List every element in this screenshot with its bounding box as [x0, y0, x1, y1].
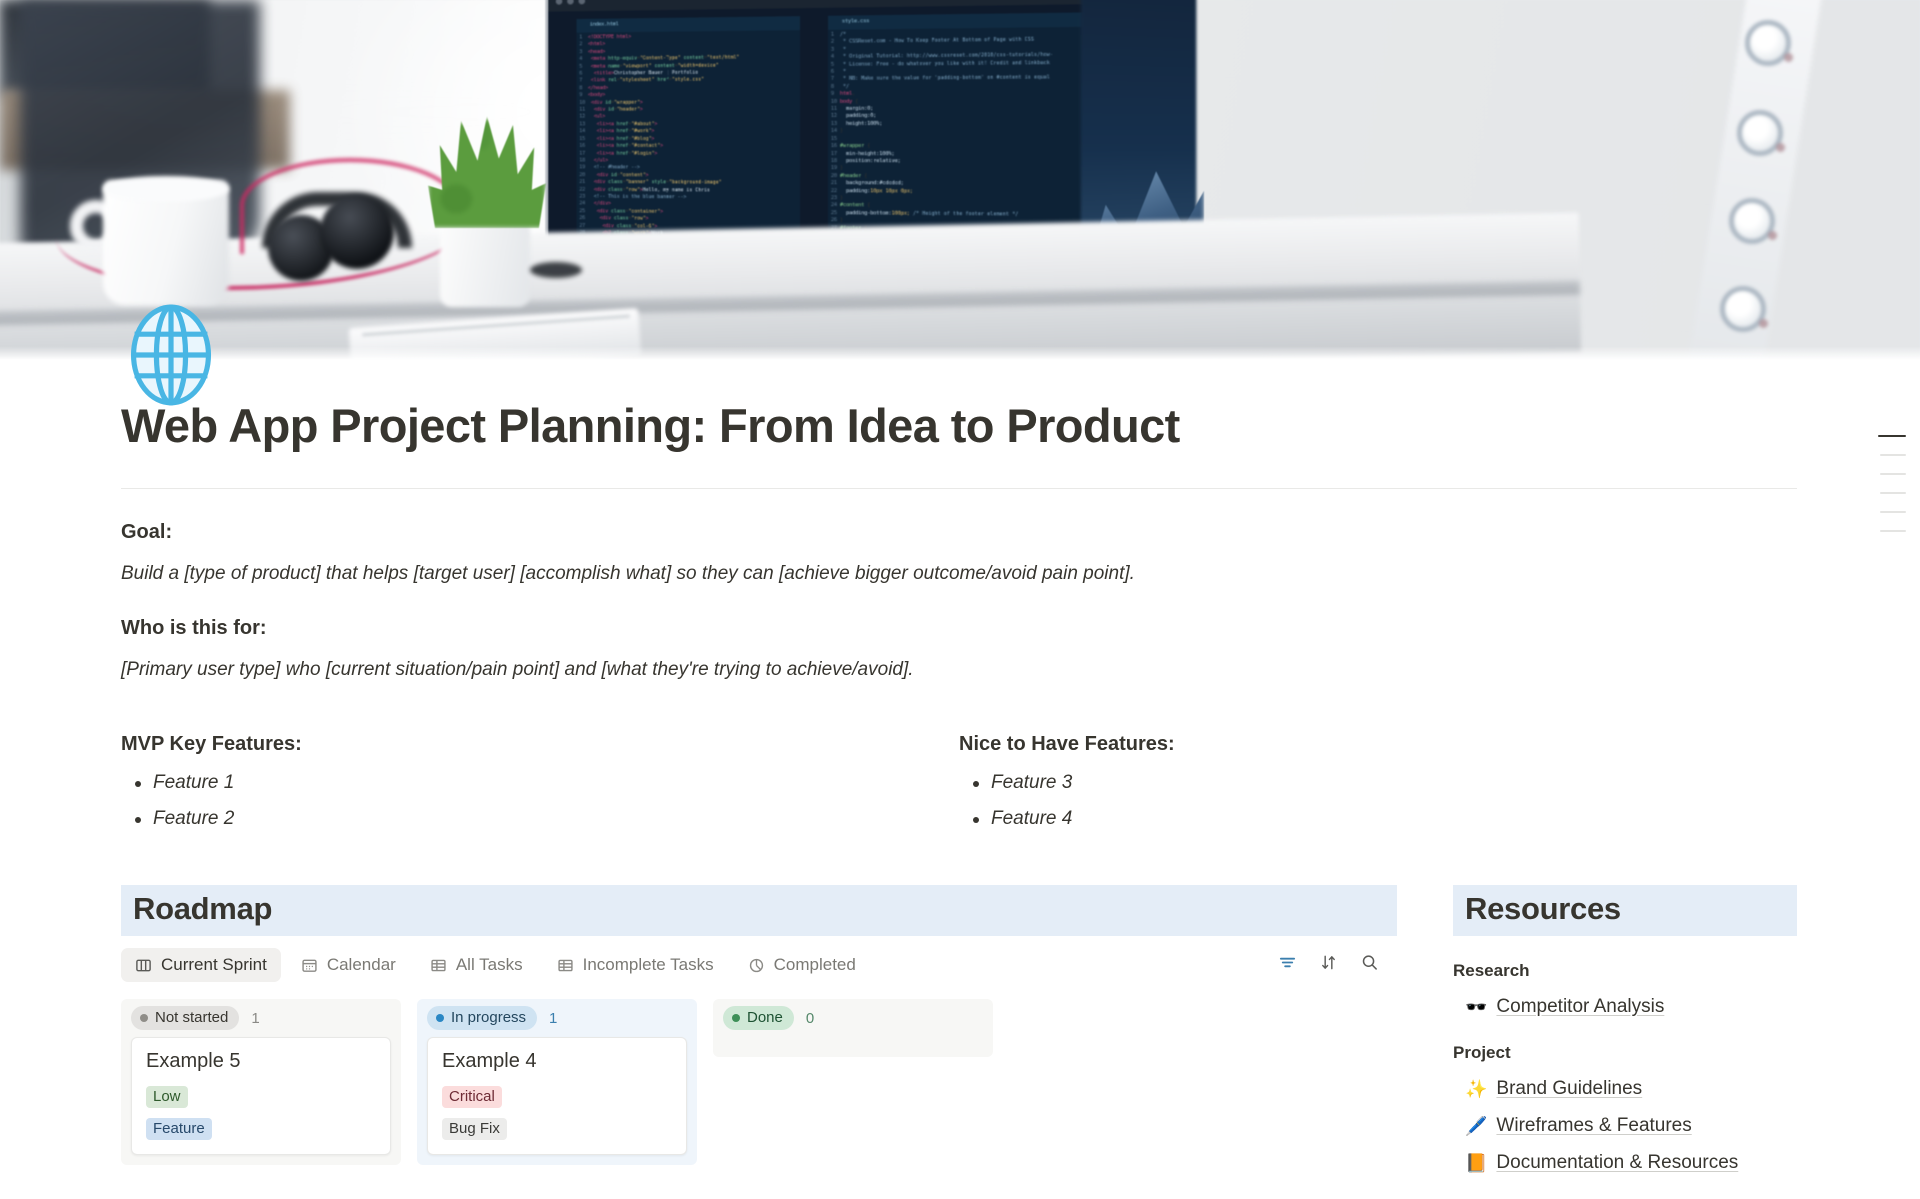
tab-incomplete-tasks[interactable]: Incomplete Tasks	[543, 948, 728, 982]
resource-label: Wireframes & Features	[1496, 1115, 1691, 1137]
headphone-earcup-right	[320, 195, 394, 269]
resource-link-competitor-analysis[interactable]: 🕶️ Competitor Analysis	[1453, 996, 1797, 1018]
nice-to-have-list: Feature 3 Feature 4	[959, 772, 1797, 830]
search-icon[interactable]	[1360, 953, 1379, 977]
board-icon	[135, 957, 152, 974]
goal-text[interactable]: Build a [type of product] that helps [ta…	[121, 563, 1797, 585]
column-header[interactable]: Done 0	[713, 999, 993, 1037]
toc-mark[interactable]	[1880, 511, 1906, 513]
audience-heading: Who is this for:	[121, 617, 1797, 640]
card-tag-row: Low	[146, 1086, 376, 1108]
toc-mark[interactable]	[1880, 530, 1906, 532]
pie-chart-icon	[748, 957, 765, 974]
pen-icon: 🖊️	[1465, 1117, 1487, 1135]
column-count: 0	[806, 1010, 814, 1027]
column-header[interactable]: Not started 1	[121, 999, 401, 1037]
list-item[interactable]: Feature 2	[121, 808, 959, 830]
cover-bottom-fade	[0, 346, 1920, 360]
roadmap-tool-icons	[1278, 953, 1397, 977]
toc-mark[interactable]	[1880, 473, 1906, 475]
table-icon	[557, 957, 574, 974]
roadmap-view-tabs: Current Sprint	[121, 948, 1278, 982]
resources-section: Resources Research 🕶️ Competitor Analysi…	[1453, 885, 1797, 1174]
toc-mark[interactable]	[1880, 454, 1906, 456]
mug-rim	[103, 176, 229, 202]
lower-section: Roadmap Current Sprint	[121, 885, 1797, 1174]
status-badge: Not started	[131, 1006, 239, 1030]
status-badge: In progress	[427, 1006, 537, 1030]
kanban-column-done: Done 0	[713, 999, 993, 1165]
light-ring	[1745, 20, 1791, 66]
card-title: Example 4	[442, 1050, 672, 1073]
toc-mark[interactable]	[1880, 492, 1906, 494]
features-columns: MVP Key Features: Feature 1 Feature 2 Ni…	[121, 733, 1797, 830]
cover-photo: index.html 1 <!DOCTYPE html> 2 <html> 3 …	[0, 0, 1920, 360]
globe-icon[interactable]	[119, 303, 223, 407]
light-ring	[1720, 286, 1766, 332]
roadmap-heading: Roadmap	[121, 885, 1397, 936]
tab-label: Completed	[774, 955, 856, 975]
resource-link-brand-guidelines[interactable]: ✨ Brand Guidelines	[1453, 1078, 1797, 1100]
tab-label: Current Sprint	[161, 955, 267, 975]
tab-label: Incomplete Tasks	[583, 955, 714, 975]
type-tag: Feature	[146, 1118, 212, 1140]
task-card[interactable]: Example 5 Low Feature	[131, 1037, 391, 1155]
mvp-features-list: Feature 1 Feature 2	[121, 772, 959, 830]
mouse	[530, 262, 582, 278]
title-divider	[121, 488, 1797, 489]
status-dot-icon	[732, 1014, 740, 1022]
list-item[interactable]: Feature 1	[121, 772, 959, 794]
page-title[interactable]: Web App Project Planning: From Idea to P…	[121, 398, 1797, 453]
type-tag: Bug Fix	[442, 1118, 507, 1140]
orange-book-icon: 📙	[1465, 1154, 1487, 1172]
roadmap-toolbar: Current Sprint	[121, 945, 1397, 985]
resources-heading: Resources	[1453, 885, 1797, 936]
editor-tab-style-css: style.css	[828, 12, 1089, 29]
card-title: Example 5	[146, 1050, 376, 1073]
column-count: 1	[251, 1010, 259, 1027]
filter-icon[interactable]	[1278, 953, 1297, 977]
light-ring	[1737, 110, 1783, 156]
table-of-contents-minimap[interactable]	[1878, 435, 1906, 532]
editor-titlebar	[548, 0, 1092, 12]
list-item[interactable]: Feature 4	[959, 808, 1797, 830]
card-tag-row: Bug Fix	[442, 1118, 672, 1140]
kanban-column-not-started: Not started 1 Example 5 Low	[121, 999, 401, 1165]
mvp-features-column: MVP Key Features: Feature 1 Feature 2	[121, 733, 959, 830]
tab-label: All Tasks	[456, 955, 523, 975]
card-tag-row: Critical	[442, 1086, 672, 1108]
nice-to-have-column: Nice to Have Features: Feature 3 Feature…	[959, 733, 1797, 830]
status-label: Done	[747, 1009, 783, 1026]
status-label: Not started	[155, 1009, 228, 1026]
light-ring	[1729, 198, 1775, 244]
editor-tab-index-html: index.html	[577, 16, 800, 33]
column-count: 1	[549, 1010, 557, 1027]
tab-all-tasks[interactable]: All Tasks	[416, 948, 537, 982]
resources-group-research: Research	[1453, 961, 1797, 981]
tab-calendar[interactable]: Calendar	[287, 948, 410, 982]
column-header[interactable]: In progress 1	[417, 999, 697, 1037]
sunglasses-icon: 🕶️	[1465, 998, 1487, 1016]
resource-label: Brand Guidelines	[1496, 1078, 1642, 1100]
status-dot-icon	[140, 1014, 148, 1022]
status-badge: Done	[723, 1006, 794, 1030]
column-cards: Example 5 Low Feature	[121, 1037, 401, 1165]
priority-tag: Critical	[442, 1086, 502, 1108]
sort-icon[interactable]	[1319, 953, 1338, 977]
tab-current-sprint[interactable]: Current Sprint	[121, 948, 281, 982]
column-cards: Example 4 Critical Bug Fix	[417, 1037, 697, 1165]
kanban-column-in-progress: In progress 1 Example 4 Critical	[417, 999, 697, 1165]
status-dot-icon	[436, 1014, 444, 1022]
tab-completed[interactable]: Completed	[734, 948, 870, 982]
resource-label: Competitor Analysis	[1496, 996, 1664, 1018]
resource-link-documentation-resources[interactable]: 📙 Documentation & Resources	[1453, 1152, 1797, 1174]
page-cover-image: index.html 1 <!DOCTYPE html> 2 <html> 3 …	[0, 0, 1920, 360]
goal-heading: Goal:	[121, 521, 1797, 544]
kanban-board: Not started 1 Example 5 Low	[121, 999, 1397, 1165]
card-tag-row: Feature	[146, 1118, 376, 1140]
nice-to-have-heading: Nice to Have Features:	[959, 733, 1797, 756]
status-label: In progress	[451, 1009, 526, 1026]
mvp-features-heading: MVP Key Features:	[121, 733, 959, 756]
list-item[interactable]: Feature 3	[959, 772, 1797, 794]
resource-label: Documentation & Resources	[1496, 1152, 1738, 1174]
audience-text[interactable]: [Primary user type] who [current situati…	[121, 659, 1797, 681]
calendar-icon	[301, 957, 318, 974]
document-body: Web App Project Planning: From Idea to P…	[0, 398, 1920, 1174]
roadmap-section: Roadmap Current Sprint	[121, 885, 1397, 1174]
resource-link-wireframes-features[interactable]: 🖊️ Wireframes & Features	[1453, 1115, 1797, 1137]
toc-mark-active[interactable]	[1878, 435, 1906, 437]
tab-label: Calendar	[327, 955, 396, 975]
task-card[interactable]: Example 4 Critical Bug Fix	[427, 1037, 687, 1155]
resources-group-project: Project	[1453, 1043, 1797, 1063]
table-icon	[430, 957, 447, 974]
column-cards	[713, 1037, 993, 1057]
priority-tag: Low	[146, 1086, 188, 1108]
sparkles-icon: ✨	[1465, 1080, 1487, 1098]
